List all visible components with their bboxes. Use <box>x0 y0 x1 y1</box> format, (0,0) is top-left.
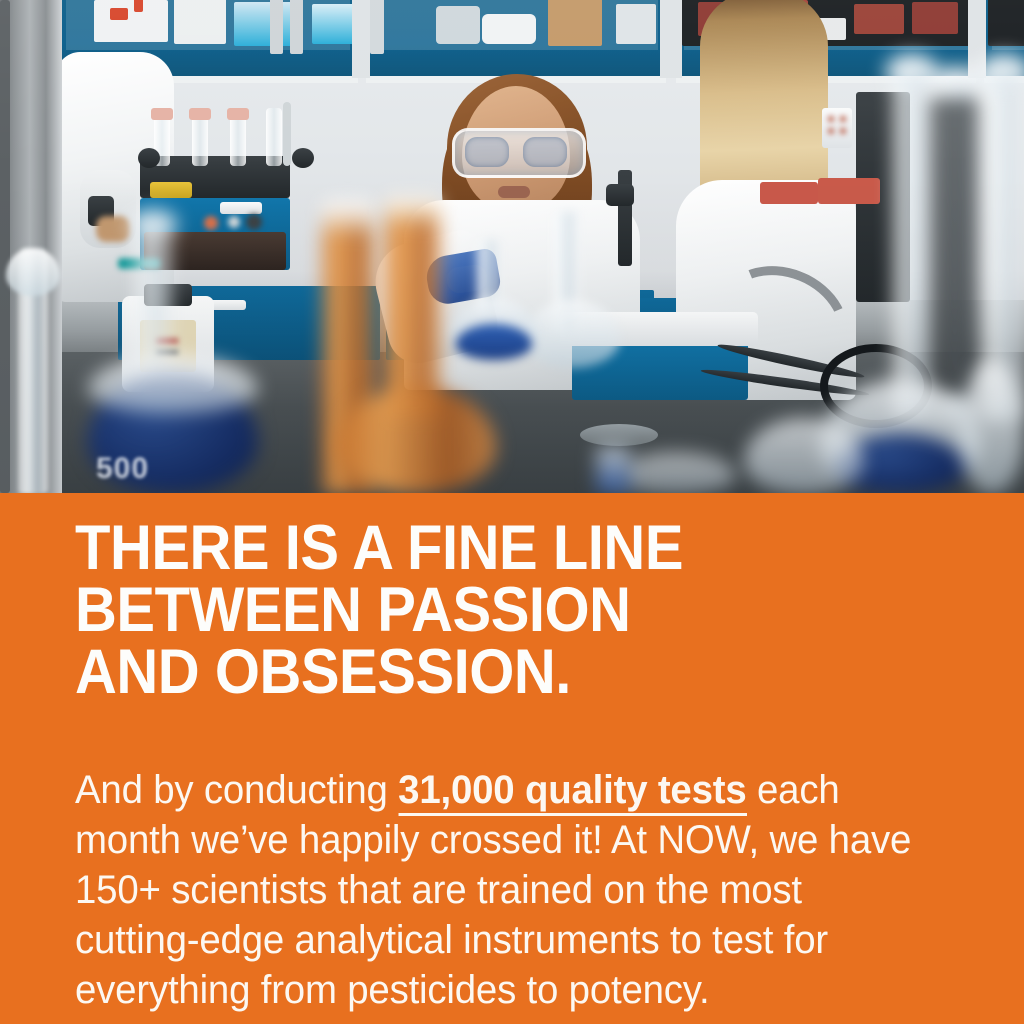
analyzer-knob <box>246 214 262 230</box>
cabinet-box-white <box>94 0 168 42</box>
door-frame-edge <box>0 0 10 493</box>
cabinet-box-label <box>134 0 143 12</box>
body-copy: And by conducting 31,000 quality tests e… <box>75 765 920 1015</box>
test-tube <box>230 112 246 166</box>
cabinet-box-red <box>912 2 958 34</box>
petri-dish <box>580 424 658 446</box>
social-graphic-canvas: 500 <box>0 0 1024 1024</box>
cabinet-box-label <box>110 8 128 20</box>
cabinet-box-red <box>854 4 904 34</box>
goggle-lens-right <box>523 137 567 167</box>
test-tube <box>266 108 282 166</box>
wall-outlet <box>822 108 852 148</box>
analyzer-knob <box>204 216 218 230</box>
cabinet-tube <box>370 0 384 54</box>
test-tube-cap <box>227 108 249 120</box>
cabinet-divider <box>660 0 682 78</box>
stand-clamp <box>606 184 634 206</box>
instrument-rack-label <box>150 182 192 198</box>
cabinet-jar <box>616 4 656 44</box>
goggle-lens-left <box>465 137 509 167</box>
analyzer-knob <box>228 216 240 228</box>
rack-clamp <box>292 148 314 168</box>
body-copy-emphasis: 31,000 quality tests <box>398 768 746 816</box>
rack-clamp <box>138 148 160 168</box>
upper-cabinet <box>366 0 666 83</box>
safety-goggles <box>452 128 586 178</box>
outlet-indicator <box>840 116 846 122</box>
cabinet-bottle-blue <box>312 4 354 44</box>
cabinet-tube <box>270 0 283 54</box>
person-left-glove <box>96 216 130 242</box>
cabinet-box-kraft <box>548 0 602 46</box>
flask-volume-label: 500 <box>96 452 190 486</box>
analyzer-display <box>220 202 262 214</box>
scientist-mouth <box>498 186 530 198</box>
headline: THERE IS A FINE LINE BETWEEN PASSION AND… <box>75 517 903 703</box>
outlet-indicator <box>828 128 834 134</box>
body-copy-before: And by conducting <box>75 768 398 812</box>
orange-text-panel: THERE IS A FINE LINE BETWEEN PASSION AND… <box>0 493 1024 1024</box>
cabinet-jar <box>436 6 480 44</box>
test-tube-cap <box>151 108 173 120</box>
cabinet-dark-shelf <box>988 0 1024 46</box>
test-tube-cap <box>189 108 211 120</box>
stand-rod <box>283 102 291 166</box>
cabinet-divider <box>352 0 370 78</box>
outlet-indicator <box>828 116 834 122</box>
cabinet-bottle-blue <box>234 2 292 46</box>
cabinet-jar <box>482 14 536 44</box>
shelf-items-red <box>760 182 818 204</box>
cabinet-tube <box>290 0 303 54</box>
cabinet-box-white <box>174 0 226 44</box>
lab-photo: 500 <box>0 0 1024 493</box>
test-tube <box>192 112 208 166</box>
shelf-items-red <box>818 178 880 204</box>
outlet-indicator <box>840 128 846 134</box>
